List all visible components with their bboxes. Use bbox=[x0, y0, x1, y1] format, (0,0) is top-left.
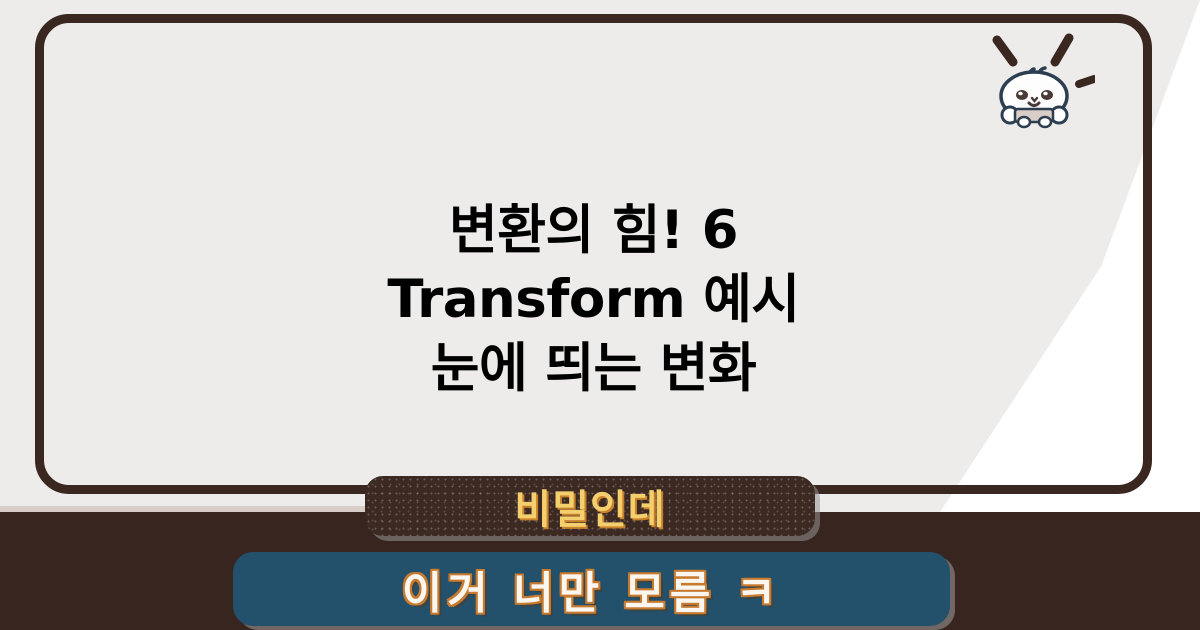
bottom-banner-label: 이거 너만 모름 ㅋ bbox=[402, 557, 781, 621]
mascot-foot-right bbox=[1039, 117, 1051, 127]
secret-badge: 비밀인데 bbox=[365, 476, 815, 536]
spark-left-icon bbox=[997, 40, 1013, 62]
mascot-eye-glint-right bbox=[1043, 92, 1047, 96]
secret-badge-label: 비밀인데 bbox=[514, 477, 665, 535]
mascot-eye-right bbox=[1041, 90, 1053, 100]
spark-side-icon bbox=[1079, 79, 1094, 84]
mascot-eye-left bbox=[1016, 90, 1028, 100]
mascot-excited-blob-character bbox=[975, 22, 1095, 142]
spark-right-icon bbox=[1055, 38, 1069, 62]
thumbnail-card: 변환의 힘! 6 Transform 예시 눈에 띄는 변화 비밀인데 이거 너… bbox=[0, 0, 1200, 630]
mascot-eye-glint-left bbox=[1018, 92, 1022, 96]
bottom-banner: 이거 너만 모름 ㅋ bbox=[233, 552, 950, 626]
page-title: 변환의 힘! 6 Transform 예시 눈에 띄는 변화 bbox=[35, 196, 1152, 403]
mascot-foot-left bbox=[1018, 117, 1030, 127]
